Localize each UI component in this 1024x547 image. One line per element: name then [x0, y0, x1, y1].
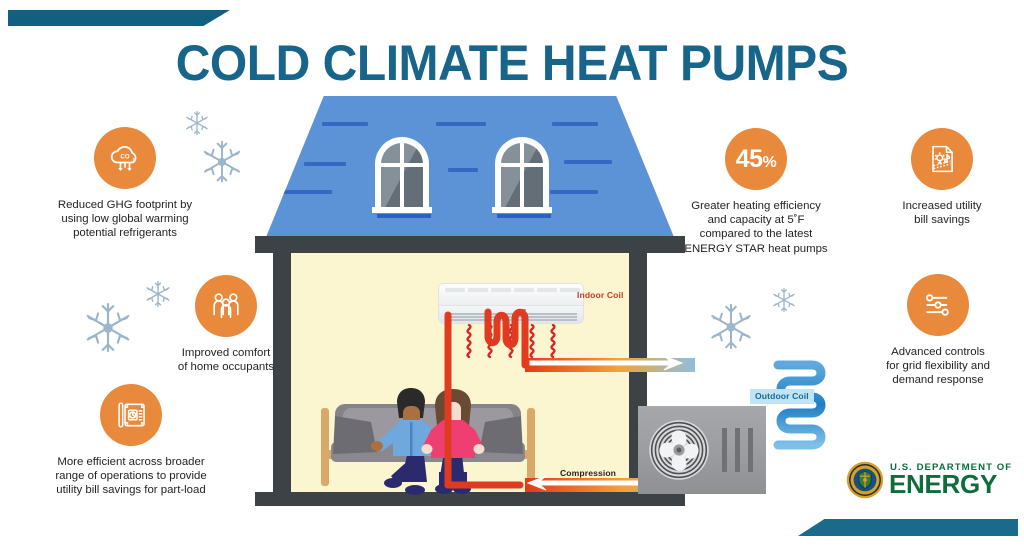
- feature-label: Greater heating efficiency and capacity …: [666, 199, 846, 256]
- infographic-canvas: COLD CLIMATE HEAT PUMPS: [0, 0, 1024, 547]
- feature-label: Improved comfort of home occupants: [126, 346, 326, 374]
- doe-seal-icon: [846, 461, 884, 499]
- condenser-fins: [722, 428, 756, 472]
- feature-improved-comfort: Improved comfort of home occupants: [126, 275, 326, 374]
- feature-increased-utility-bill-savings: Increased utility bill savings: [862, 128, 1022, 227]
- feature-more-efficient: More efficient across broader range of o…: [20, 384, 242, 498]
- svg-text:CO: CO: [120, 154, 129, 161]
- co2-cloud-icon: CO 2: [94, 127, 156, 189]
- feature-label: Reduced GHG footprint by using low globa…: [22, 198, 228, 241]
- arched-window: [495, 137, 549, 213]
- family-group-icon: [195, 275, 257, 337]
- feature-greater-heating-efficiency: 45% Greater heating efficiency and capac…: [666, 128, 846, 256]
- outdoor-condenser-unit: [638, 406, 766, 494]
- roof-eave: [255, 236, 685, 253]
- top-banner-bar: [8, 10, 230, 26]
- percent-stat-badge: 45%: [725, 128, 787, 190]
- fan-icon: [648, 419, 710, 481]
- stat-number: 45: [736, 145, 763, 173]
- feature-label: Advanced controls for grid flexibility a…: [854, 345, 1022, 388]
- blueprint-icon: [100, 384, 162, 446]
- roof: [264, 96, 676, 242]
- bill-document-icon: [911, 128, 973, 190]
- page-title: COLD CLIMATE HEAT PUMPS: [20, 34, 1003, 92]
- bottom-banner-bar: [798, 519, 1018, 536]
- feature-advanced-controls: Advanced controls for grid flexibility a…: [854, 274, 1022, 388]
- arched-window: [375, 137, 429, 213]
- outdoor-coil-label: Outdoor Coil: [750, 389, 814, 404]
- feature-reduced-ghg: CO 2 Reduced GHG footprint by using low …: [22, 127, 228, 241]
- feature-label: More efficient across broader range of o…: [20, 455, 242, 498]
- indoor-coil-label: Indoor Coil: [577, 290, 623, 300]
- doe-agency-line: ENERGY: [889, 471, 997, 497]
- doe-logo: U.S. DEPARTMENT OF ENERGY: [846, 459, 1022, 503]
- compression-label: Compression: [560, 468, 616, 478]
- feature-label: Increased utility bill savings: [862, 199, 1022, 227]
- sliders-icon: [907, 274, 969, 336]
- stat-unit: %: [763, 154, 777, 171]
